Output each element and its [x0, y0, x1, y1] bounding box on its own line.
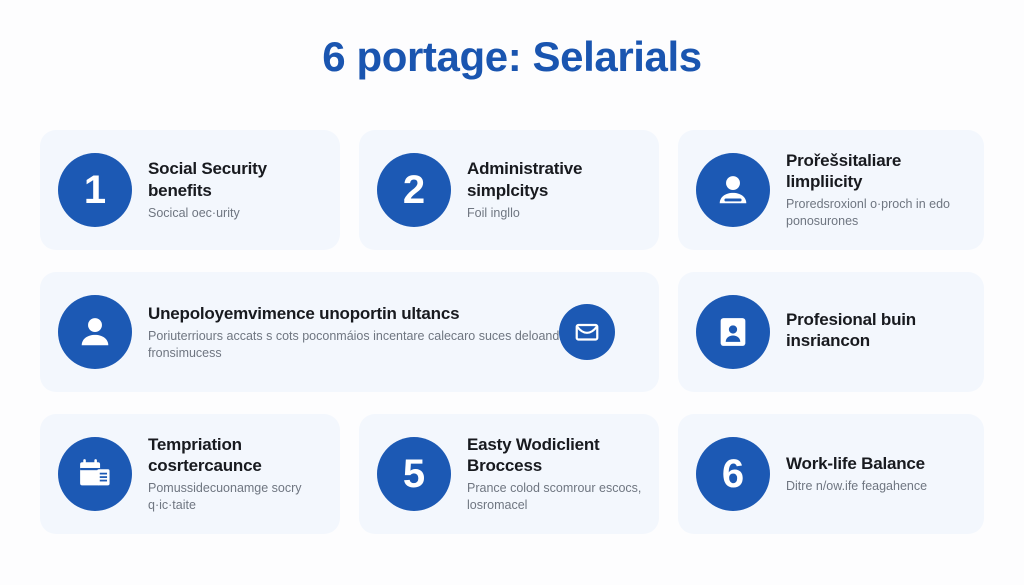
card-text-block: Prořešsitaliare limpliicity Proredsroxio…	[786, 150, 968, 230]
card-text-block: Administrative simplcitys Foil ingllo	[467, 158, 643, 221]
mail-badge[interactable]	[559, 304, 615, 360]
card-title: Social Security benefits	[148, 158, 324, 201]
number-two-icon: 2	[403, 170, 425, 210]
badge-calendar	[58, 437, 132, 511]
card-unemployment-support[interactable]: Unepoloyemvimence unoportin ultancs Pori…	[40, 272, 659, 392]
card-administrative-simplicity[interactable]: 2 Administrative simplcitys Foil ingllo	[359, 130, 659, 250]
badge-number-2: 2	[377, 153, 451, 227]
title-container: 6 portage: Selarials	[0, 34, 1024, 80]
card-subtitle: Foil ingllo	[467, 205, 643, 222]
number-five-icon: 5	[403, 454, 425, 494]
mail-icon	[573, 318, 601, 346]
card-subtitle: Prance colod scomrour escocs, losromacel	[467, 480, 643, 514]
infographic-root: 6 portage: Selarials 1 Social Security b…	[0, 0, 1024, 585]
badge-person	[696, 153, 770, 227]
badge-number-5: 5	[377, 437, 451, 511]
card-work-life-balance[interactable]: 6 Work-life Balance Ditre n/ow.ife feaga…	[678, 414, 984, 534]
person-icon	[76, 313, 114, 351]
card-title: Work-life Balance	[786, 453, 968, 474]
badge-number-1: 1	[58, 153, 132, 227]
calendar-list-icon	[76, 455, 114, 493]
badge-id-card	[696, 295, 770, 369]
card-temptation-insurance[interactable]: Tempriation cosrtercaunce Pomussidecuona…	[40, 414, 340, 534]
cards-grid: 1 Social Security benefits Socical oec·u…	[40, 130, 984, 534]
card-subtitle: Ditre n/ow.ife feagahence	[786, 478, 968, 495]
card-social-security[interactable]: 1 Social Security benefits Socical oec·u…	[40, 130, 340, 250]
card-subtitle: Proredsroxionl o·proch in edo ponosurone…	[786, 196, 968, 230]
card-professional-insurance[interactable]: Profesional buin insriancon	[678, 272, 984, 392]
number-six-icon: 6	[722, 454, 744, 494]
card-title: Prořešsitaliare limpliicity	[786, 150, 968, 193]
card-title: Tempriation cosrtercaunce	[148, 434, 324, 477]
person-icon	[714, 171, 752, 209]
page-title: 6 portage: Selarials	[0, 34, 1024, 80]
card-title: Easty Wodiclient Broccess	[467, 434, 643, 477]
number-one-icon: 1	[84, 170, 106, 210]
card-subtitle: Socical oec·urity	[148, 205, 324, 222]
card-title: Administrative simplcitys	[467, 158, 643, 201]
card-text-block: Social Security benefits Socical oec·uri…	[148, 158, 324, 221]
card-text-block: Work-life Balance Ditre n/ow.ife feagahe…	[786, 453, 968, 495]
card-text-block: Tempriation cosrtercaunce Pomussidecuona…	[148, 434, 324, 514]
card-text-block: Profesional buin insriancon	[786, 309, 968, 356]
badge-number-6: 6	[696, 437, 770, 511]
card-text-block: Easty Wodiclient Broccess Prance colod s…	[467, 434, 643, 514]
id-badge-icon	[714, 313, 752, 351]
card-subtitle: Pomussidecuonamge socry q·ic·taite	[148, 480, 324, 514]
card-professional-simplicity[interactable]: Prořešsitaliare limpliicity Proredsroxio…	[678, 130, 984, 250]
badge-person	[58, 295, 132, 369]
card-title: Profesional buin insriancon	[786, 309, 968, 352]
card-easy-process[interactable]: 5 Easty Wodiclient Broccess Prance colod…	[359, 414, 659, 534]
